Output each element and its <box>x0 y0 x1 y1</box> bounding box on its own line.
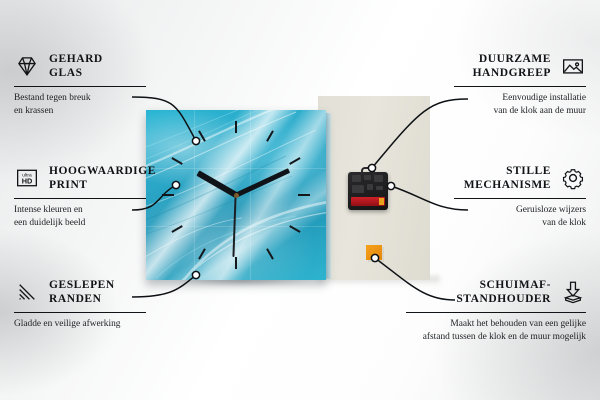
feature-divider <box>14 86 146 87</box>
feature-description: Maakt het behouden van een gelijke afsta… <box>406 318 586 343</box>
feature-divider <box>454 198 586 199</box>
clock-tick <box>171 157 182 165</box>
ultra-hd-icon: ultra HD <box>14 165 40 191</box>
feature-description: Gladde en veilige afwerking <box>14 318 146 331</box>
feature-geslepen-randen: GESLEPEN RANDEN Gladde en veilige afwerk… <box>14 278 146 331</box>
feature-header: ultra HD HOOGWAARDIGE PRINT <box>14 164 146 193</box>
stack-arrow-icon <box>560 279 586 305</box>
feature-title: GEHARD GLAS <box>49 52 103 81</box>
feature-stille-mechanisme: STILLE MECHANISME Geruisloze wijzers van… <box>454 164 586 230</box>
clock-tick <box>266 248 274 259</box>
clock-tick <box>171 225 182 233</box>
feature-title: STILLE MECHANISME <box>464 164 551 193</box>
clock-mechanism <box>348 172 388 210</box>
mechanism-hanger <box>361 167 375 175</box>
feature-divider <box>14 312 146 313</box>
feature-header: STILLE MECHANISME <box>454 164 586 193</box>
picture-frame-icon <box>560 53 586 79</box>
clock-tick <box>298 194 310 196</box>
clock-tick <box>235 257 237 269</box>
clock-tick <box>198 130 206 141</box>
aa-battery <box>351 197 385 206</box>
clock-tick <box>162 194 174 196</box>
feature-title: DUURZAME HANDGREEP <box>473 52 551 81</box>
clock-center-cap <box>234 193 239 198</box>
feature-description: Eenvoudige installatie van de klok aan d… <box>454 92 586 117</box>
glass-wall-clock <box>146 110 326 280</box>
clock-tick <box>235 121 237 133</box>
feature-description: Geruisloze wijzers van de klok <box>454 204 586 229</box>
feature-schuimafstandhouder: SCHUIMAF- STANDHOUDER Maakt het behouden… <box>406 278 586 344</box>
clock-glass-edge <box>326 113 331 280</box>
feature-header: SCHUIMAF- STANDHOUDER <box>406 278 586 307</box>
feature-description: Bestand tegen breuk en krassen <box>14 92 146 117</box>
feature-title: SCHUIMAF- STANDHOUDER <box>456 278 551 307</box>
feature-duurzame-handgreep: DUURZAME HANDGREEP Eenvoudige installati… <box>454 52 586 118</box>
gear-icon <box>560 165 586 191</box>
feature-description: Intense kleuren en een duidelijk beeld <box>14 204 146 229</box>
beveled-edges-icon <box>14 279 40 305</box>
svg-text:HD: HD <box>22 177 33 186</box>
clock-tick <box>266 130 274 141</box>
diamond-icon <box>14 53 40 79</box>
mechanism-face <box>351 175 385 193</box>
feature-title: GESLEPEN RANDEN <box>49 278 115 307</box>
infographic-canvas: GEHARD GLAS Bestand tegen breuk en krass… <box>0 0 600 400</box>
foam-spacer <box>366 245 382 260</box>
feature-divider <box>14 198 146 199</box>
clock-tick <box>289 225 300 233</box>
feature-gehard-glas: GEHARD GLAS Bestand tegen breuk en krass… <box>14 52 146 118</box>
feature-header: GESLEPEN RANDEN <box>14 278 146 307</box>
feature-title: HOOGWAARDIGE PRINT <box>49 164 156 193</box>
feature-divider <box>454 86 586 87</box>
feature-header: DUURZAME HANDGREEP <box>454 52 586 81</box>
clock-tick <box>289 157 300 165</box>
feature-header: GEHARD GLAS <box>14 52 146 81</box>
feature-divider <box>406 312 586 313</box>
clock-tick <box>198 248 206 259</box>
feature-hoogwaardige-print: ultra HD HOOGWAARDIGE PRINT Intense kleu… <box>14 164 146 230</box>
